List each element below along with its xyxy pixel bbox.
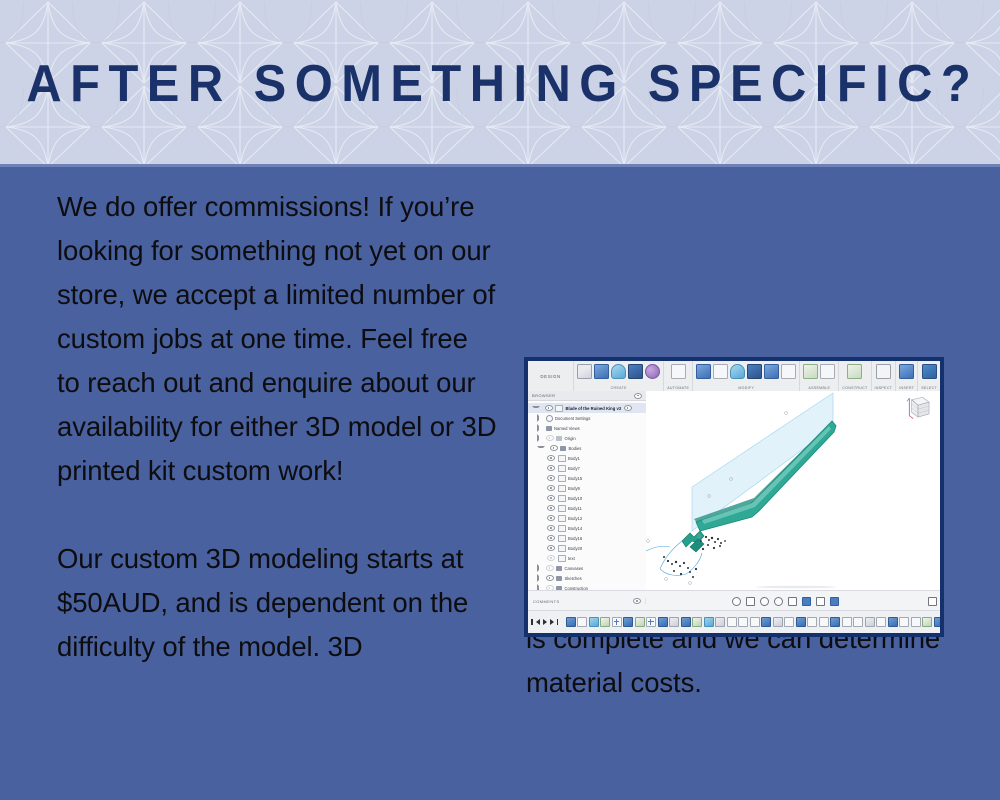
visibility-icon[interactable] — [547, 495, 555, 501]
toolbar-label-inspect: INSPECT — [875, 386, 893, 390]
tree-root-document[interactable]: Blade of the Ruined King v3 — [528, 403, 646, 413]
chamfer-icon[interactable] — [730, 364, 745, 379]
browser-panel-title: BROWSER — [532, 393, 555, 398]
chevron-down-icon[interactable] — [532, 406, 540, 410]
skip-end-icon[interactable] — [557, 619, 559, 625]
tree-item-label: Canvases — [565, 566, 584, 571]
extrude-icon[interactable] — [594, 364, 609, 379]
timeline-feature-icon[interactable] — [773, 617, 783, 627]
timeline-feature-icon[interactable] — [589, 617, 599, 627]
body-label: Body20 — [568, 546, 582, 551]
tree-body-item[interactable]: Body20 — [528, 543, 646, 553]
chevron-right-icon[interactable] — [537, 434, 543, 442]
tree-item-label: Origin — [565, 436, 576, 441]
timeline-feature-icon[interactable] — [692, 617, 702, 627]
body-label: Body7 — [568, 466, 580, 471]
select-icon[interactable] — [922, 364, 937, 379]
body-icon — [558, 535, 566, 542]
timeline-feature-icon[interactable] — [796, 617, 806, 627]
toolbar-label-insert: INSERT — [899, 386, 914, 390]
chevron-right-icon[interactable] — [537, 564, 543, 572]
body-icon — [558, 505, 566, 512]
play-icon[interactable] — [543, 619, 547, 625]
toolbar-label-select: SELECT — [921, 386, 937, 390]
visibility-icon[interactable] — [547, 475, 555, 481]
header-band: AFTER SOMETHING SPECIFIC? — [0, 0, 1000, 167]
timeline-feature-icon[interactable] — [566, 617, 576, 627]
body-icon — [558, 465, 566, 472]
left-text-column: We do offer commissions! If you’re looki… — [57, 185, 497, 669]
folder-icon — [546, 426, 552, 431]
workspace-selector[interactable]: DESIGN — [528, 361, 574, 391]
toolbar-group-inspect: INSPECT — [872, 361, 897, 391]
body-icon — [558, 475, 566, 482]
visibility-icon[interactable] — [550, 445, 558, 451]
tree-root-label: Blade of the Ruined King v3 — [566, 406, 622, 411]
paragraph-commissions: We do offer commissions! If you’re looki… — [57, 185, 497, 493]
timeline-feature-icon[interactable] — [750, 617, 760, 627]
poster-canvas: AFTER SOMETHING SPECIFIC? We do offer co… — [0, 0, 1000, 800]
tree-body-item[interactable]: Body12 — [528, 513, 646, 523]
timeline-feature-icon[interactable] — [911, 617, 921, 627]
settings-icon[interactable] — [928, 597, 937, 606]
folder-icon — [556, 576, 562, 581]
tree-item-label: Document Settings — [555, 416, 590, 421]
joint-icon[interactable] — [820, 364, 835, 379]
body-icon — [558, 485, 566, 492]
tree-body-item[interactable]: Body10 — [528, 493, 646, 503]
cad-viewport[interactable] — [646, 391, 940, 591]
body-label: text — [568, 556, 575, 561]
visibility-icon[interactable] — [547, 485, 555, 491]
sword-blade-model — [646, 391, 940, 591]
root-visibility-toggle[interactable] — [624, 405, 632, 411]
chevron-right-icon[interactable] — [537, 424, 543, 432]
tree-body-item[interactable]: Body9 — [528, 483, 646, 493]
body-icon — [558, 455, 566, 462]
timeline-feature-icon[interactable] — [681, 617, 691, 627]
shell-icon[interactable] — [747, 364, 762, 379]
visibility-icon[interactable] — [547, 455, 555, 461]
toolbar-group-create: CREATE — [574, 361, 664, 391]
tree-body-item[interactable]: Body14 — [528, 523, 646, 533]
fit-icon[interactable] — [774, 597, 783, 606]
cad-navigation-bar — [646, 597, 924, 606]
cad-comments-bar: COMMENTS — [528, 590, 940, 611]
step-forward-icon[interactable] — [550, 619, 554, 625]
comments-label: COMMENTS — [533, 599, 560, 604]
viewcube-icon[interactable] — [902, 395, 934, 425]
timeline-feature-icon[interactable] — [600, 617, 610, 627]
folder-icon — [556, 566, 562, 571]
body-label: Body14 — [568, 526, 582, 531]
step-back-icon[interactable] — [536, 619, 540, 625]
timeline-feature-icon[interactable] — [635, 617, 645, 627]
timeline-feature-icon[interactable] — [612, 617, 622, 627]
body-label: Body1 — [568, 456, 580, 461]
timeline-feature-icon[interactable] — [865, 617, 875, 627]
timeline-feature-icon[interactable] — [899, 617, 909, 627]
body-label: Body10 — [568, 496, 582, 501]
timeline-feature-icon[interactable] — [727, 617, 737, 627]
document-icon — [555, 405, 563, 412]
viewports-icon[interactable] — [830, 597, 839, 606]
timeline-feature-icon[interactable] — [876, 617, 886, 627]
visibility-icon[interactable] — [547, 535, 555, 541]
body-label: Body9 — [568, 486, 580, 491]
visibility-icon[interactable] — [545, 405, 553, 411]
body-icon — [558, 495, 566, 502]
timeline-feature-icon[interactable] — [842, 617, 852, 627]
body-label: Body16 — [568, 536, 582, 541]
orbit-icon[interactable] — [732, 597, 741, 606]
toolbar-label-automate: AUTOMATE — [667, 386, 689, 390]
chevron-right-icon[interactable] — [537, 414, 543, 422]
visibility-icon[interactable] — [546, 565, 554, 571]
visibility-icon[interactable] — [547, 555, 555, 561]
fusion360-window: DESIGN CREATE — [528, 361, 940, 633]
timeline-feature-icon[interactable] — [819, 617, 829, 627]
body-icon — [558, 555, 566, 562]
folder-icon — [560, 446, 566, 451]
chevron-down-icon[interactable] — [537, 446, 545, 450]
body-area: We do offer commissions! If you’re looki… — [0, 167, 1000, 800]
tree-body-item[interactable]: Body11 — [528, 503, 646, 513]
body-icon — [558, 545, 566, 552]
page-title: AFTER SOMETHING SPECIFIC? — [30, 0, 970, 167]
toolbar-group-construct: CONSTRUCT — [839, 361, 871, 391]
chevron-right-icon[interactable] — [537, 574, 543, 582]
look-at-icon[interactable] — [788, 597, 797, 606]
new-component-icon[interactable] — [803, 364, 818, 379]
automate-icon[interactable] — [671, 364, 686, 379]
tree-item-label: Named Views — [554, 426, 580, 431]
timeline-feature-icon[interactable] — [658, 617, 668, 627]
tree-item-sketches[interactable]: Sketches — [528, 573, 646, 583]
body-icon — [558, 515, 566, 522]
timeline-feature-icon[interactable] — [646, 617, 656, 627]
visibility-icon[interactable] — [547, 525, 555, 531]
timeline-feature-icon[interactable] — [807, 617, 817, 627]
zoom-icon[interactable] — [760, 597, 769, 606]
toolbar-label-modify: MODIFY — [738, 386, 754, 390]
timeline-feature-icon[interactable] — [888, 617, 898, 627]
visibility-icon[interactable] — [547, 465, 555, 471]
tree-item-label: Sketches — [565, 576, 582, 581]
cad-browser-panel[interactable]: BROWSER Blade of the Ruined King v3 — [528, 391, 647, 591]
revolve-icon[interactable] — [611, 364, 626, 379]
browser-tree: Blade of the Ruined King v3 Document Set… — [528, 401, 646, 591]
comments-panel-header[interactable]: COMMENTS — [528, 598, 646, 604]
timeline-playback-controls — [531, 619, 564, 625]
press-pull-icon[interactable] — [696, 364, 711, 379]
tree-item-canvases[interactable]: Canvases — [528, 563, 646, 573]
draft-icon[interactable] — [764, 364, 779, 379]
offset-plane-icon[interactable] — [847, 364, 862, 379]
fillet-icon[interactable] — [713, 364, 728, 379]
tree-item-origin[interactable]: Origin — [528, 433, 646, 443]
tree-item-named-views[interactable]: Named Views — [528, 423, 646, 433]
tree-item-document-settings[interactable]: Document Settings — [528, 413, 646, 423]
new-sketch-icon[interactable] — [577, 364, 592, 379]
visibility-icon[interactable] — [547, 505, 555, 511]
form-icon[interactable] — [645, 364, 660, 379]
cad-toolbar: DESIGN CREATE — [528, 361, 940, 392]
toolbar-group-modify: MODIFY — [693, 361, 800, 391]
grid-snap-icon[interactable] — [816, 597, 825, 606]
comments-bar-right — [924, 597, 940, 606]
body-icon — [558, 525, 566, 532]
body-label: Body11 — [568, 506, 582, 511]
timeline-feature-icon[interactable] — [577, 617, 587, 627]
timeline-feature-icon[interactable] — [704, 617, 714, 627]
timeline-feature-icon[interactable] — [623, 617, 633, 627]
tree-body-item[interactable]: Body7 — [528, 463, 646, 473]
gear-icon — [546, 415, 553, 422]
toolbar-group-automate: AUTOMATE — [664, 361, 693, 391]
tree-item-bodies[interactable]: Bodies — [528, 443, 646, 453]
measure-icon[interactable] — [876, 364, 891, 379]
visibility-icon[interactable] — [547, 515, 555, 521]
toolbar-group-insert: INSERT — [896, 361, 918, 391]
timeline-feature-icon[interactable] — [853, 617, 863, 627]
insert-mcmaster-icon[interactable] — [899, 364, 914, 379]
display-settings-icon[interactable] — [802, 597, 811, 606]
toolbar-group-select: SELECT — [918, 361, 940, 391]
workspace-label: DESIGN — [540, 374, 560, 379]
timeline-feature-icon[interactable] — [738, 617, 748, 627]
toolbar-label-construct: CONSTRUCT — [842, 386, 867, 390]
body-label: Body15 — [568, 476, 582, 481]
pan-icon[interactable] — [746, 597, 755, 606]
tree-body-item[interactable]: Body16 — [528, 533, 646, 543]
timeline-feature-icon[interactable] — [784, 617, 794, 627]
timeline-feature-icon[interactable] — [922, 617, 932, 627]
sweep-icon[interactable] — [628, 364, 643, 379]
timeline-feature-icon[interactable] — [830, 617, 840, 627]
tree-body-item[interactable]: Body1 — [528, 453, 646, 463]
move-copy-icon[interactable] — [781, 364, 796, 379]
visibility-icon[interactable] — [546, 435, 554, 441]
cad-timeline[interactable] — [528, 610, 940, 633]
tree-body-item[interactable]: text — [528, 553, 646, 563]
paragraph-pricing: Our custom 3D modeling starts at $50AUD,… — [57, 537, 497, 669]
timeline-feature-icon[interactable] — [715, 617, 725, 627]
timeline-feature-icon[interactable] — [761, 617, 771, 627]
timeline-feature-icon[interactable] — [934, 617, 941, 627]
body-label: Body12 — [568, 516, 582, 521]
visibility-icon[interactable] — [547, 545, 555, 551]
toolbar-label-create: CREATE — [611, 386, 627, 390]
timeline-feature-icon[interactable] — [669, 617, 679, 627]
tree-item-label: Bodies — [569, 446, 582, 451]
folder-icon — [556, 436, 562, 441]
toolbar-label-assemble: ASSEMBLE — [808, 386, 830, 390]
toolbar-group-assemble: ASSEMBLE — [800, 361, 839, 391]
cad-screenshot-image: DESIGN CREATE — [524, 357, 944, 637]
comments-toggle-icon[interactable] — [633, 598, 641, 604]
browser-panel-header: BROWSER — [528, 391, 646, 401]
visibility-icon[interactable] — [546, 575, 554, 581]
skip-start-icon[interactable] — [531, 619, 533, 625]
tree-body-item[interactable]: Body15 — [528, 473, 646, 483]
browser-visibility-icon[interactable] — [634, 393, 642, 399]
